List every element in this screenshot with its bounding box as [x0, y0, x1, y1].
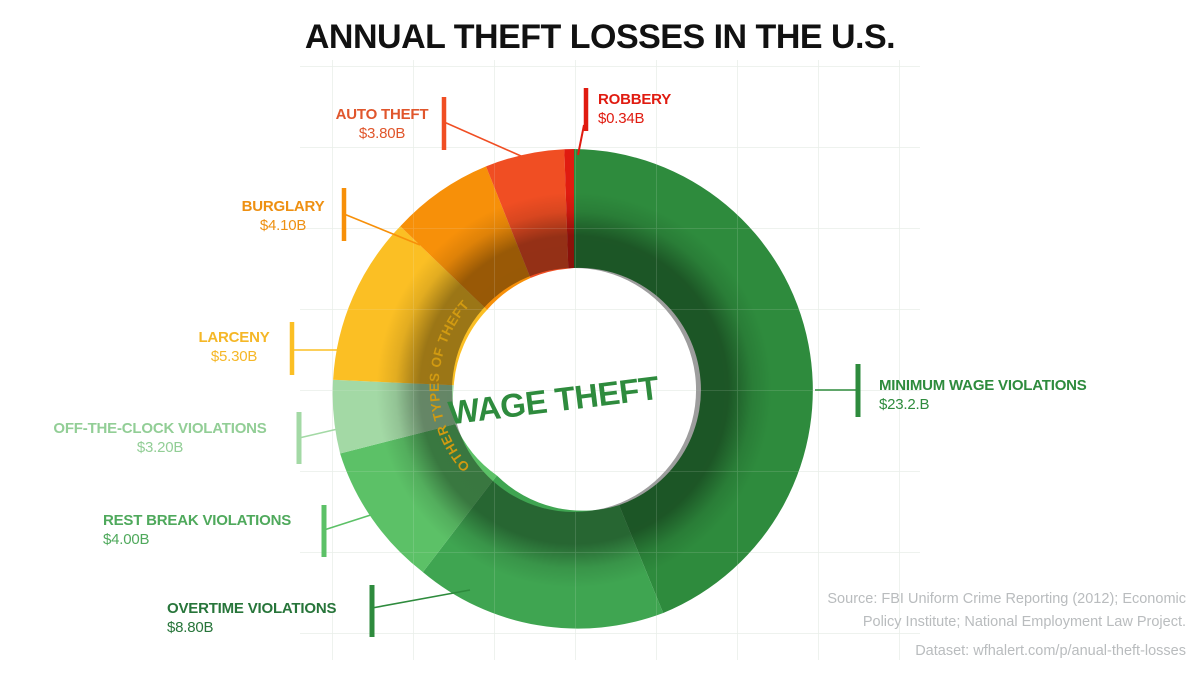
callout-rest-break[interactable]: REST BREAK VIOLATIONS $4.00B	[103, 511, 313, 549]
callout-minimum-wage[interactable]: MINIMUM WAGE VIOLATIONS $23.2.B	[879, 376, 1087, 414]
callout-rest-break-name: REST BREAK VIOLATIONS	[103, 511, 313, 530]
infographic-canvas: ANNUAL THEFT LOSSES IN THE U.S.	[0, 0, 1200, 675]
callout-auto-theft-value: $3.80B	[330, 124, 434, 143]
callout-off-the-clock-value: $3.20B	[40, 438, 280, 457]
callout-overtime-value: $8.80B	[167, 618, 367, 637]
callout-auto-theft-name: AUTO THEFT	[330, 105, 434, 124]
callout-larceny-value: $5.30B	[192, 347, 276, 366]
callout-rest-break-value: $4.00B	[103, 530, 313, 549]
callout-overtime[interactable]: OVERTIME VIOLATIONS $8.80B	[167, 599, 367, 637]
callout-robbery[interactable]: ROBBERY $0.34B	[598, 90, 671, 128]
callout-robbery-name: ROBBERY	[598, 90, 671, 109]
callout-larceny[interactable]: LARCENY $5.30B	[192, 328, 276, 366]
source-line-1: Source: FBI Uniform Crime Reporting (201…	[827, 588, 1186, 611]
callout-minimum-wage-name: MINIMUM WAGE VIOLATIONS	[879, 376, 1087, 395]
callout-burglary-name: BURGLARY	[235, 197, 331, 216]
callout-burglary[interactable]: BURGLARY $4.10B	[235, 197, 331, 235]
source-credit: Source: FBI Uniform Crime Reporting (201…	[827, 588, 1186, 634]
callout-larceny-name: LARCENY	[192, 328, 276, 347]
callout-overtime-name: OVERTIME VIOLATIONS	[167, 599, 367, 618]
source-line-2: Policy Institute; National Employment La…	[827, 611, 1186, 634]
callout-burglary-value: $4.10B	[235, 216, 331, 235]
callout-auto-theft[interactable]: AUTO THEFT $3.80B	[330, 105, 434, 143]
dataset-credit: Dataset: wfhalert.com/p/anual-theft-loss…	[915, 640, 1186, 663]
callout-minimum-wage-value: $23.2.B	[879, 395, 1087, 414]
callout-off-the-clock[interactable]: OFF-THE-CLOCK VIOLATIONS $3.20B	[40, 419, 280, 457]
callout-off-the-clock-name: OFF-THE-CLOCK VIOLATIONS	[40, 419, 280, 438]
callout-robbery-value: $0.34B	[598, 109, 671, 128]
